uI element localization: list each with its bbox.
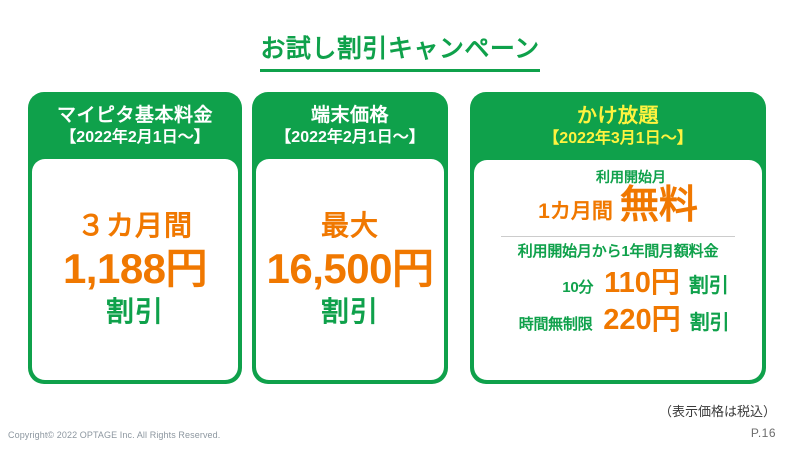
card-date-mypita: 【2022年2月1日～】: [36, 128, 234, 149]
copyright-notice: Copyright© 2022 OPTAGE Inc. All Rights R…: [8, 430, 220, 440]
rate-label-10min: 10分: [507, 276, 593, 297]
card-header-mypita: マイピタ基本料金 【2022年2月1日～】: [32, 96, 238, 159]
discount-amount-device-price: 16,500円: [267, 245, 434, 293]
rate-discount-word-unlimited: 割引: [690, 306, 730, 335]
discount-word-device-price: 割引: [321, 296, 379, 328]
card-date-kakehoudai: 【2022年3月1日～】: [478, 129, 758, 150]
section-divider: [501, 236, 735, 237]
card-header-device-price: 端末価格 【2022年2月1日～】: [256, 96, 444, 159]
free-word-label: 無料: [620, 186, 698, 227]
card-body-mypita: ３カ月間 1,188円 割引: [32, 159, 238, 380]
page-number: P.16: [751, 426, 776, 440]
free-term-label: 1カ月間: [538, 195, 613, 225]
card-title-device-price: 端末価格: [260, 105, 440, 127]
rate-amount-10min: 110円: [604, 268, 680, 298]
rate-label-unlimited: 時間無制限: [506, 313, 592, 334]
campaign-card-kakehoudai: かけ放題 【2022年3月1日～】 利用開始月 1カ月間 無料 利用開始月から1…: [470, 92, 766, 384]
rate-row-unlimited: 時間無制限 220円 割引: [488, 305, 748, 335]
start-month-label: 利用開始月: [488, 170, 748, 185]
duration-label-mypita: ３カ月間: [77, 210, 193, 242]
yearly-rate-label: 利用開始月から1年間月額料金: [488, 244, 748, 261]
max-label-device-price: 最大: [321, 210, 379, 242]
card-title-kakehoudai: かけ放題: [478, 105, 758, 128]
discount-amount-mypita: 1,188円: [63, 245, 207, 293]
card-body-kakehoudai: 利用開始月 1カ月間 無料 利用開始月から1年間月額料金 10分 110円 割引…: [474, 160, 762, 380]
card-header-kakehoudai: かけ放題 【2022年3月1日～】: [474, 96, 762, 160]
campaign-card-mypita: マイピタ基本料金 【2022年2月1日～】 ３カ月間 1,188円 割引: [28, 92, 242, 384]
card-date-device-price: 【2022年2月1日～】: [260, 128, 440, 149]
rate-row-10min: 10分 110円 割引: [488, 268, 748, 298]
discount-word-mypita: 割引: [106, 296, 164, 328]
page-title: お試し割引キャンペーン: [260, 36, 539, 72]
page-title-container: お試し割引キャンペーン: [0, 36, 800, 72]
card-title-mypita: マイピタ基本料金: [36, 105, 234, 127]
tax-inclusive-note: （表示価格は税込）: [659, 404, 776, 420]
campaign-card-device-price: 端末価格 【2022年2月1日～】 最大 16,500円 割引: [252, 92, 448, 384]
card-body-device-price: 最大 16,500円 割引: [256, 159, 444, 380]
rate-discount-word-10min: 割引: [689, 269, 729, 298]
rate-amount-unlimited: 220円: [603, 305, 680, 335]
free-offer-row: 1カ月間 無料: [488, 186, 748, 227]
